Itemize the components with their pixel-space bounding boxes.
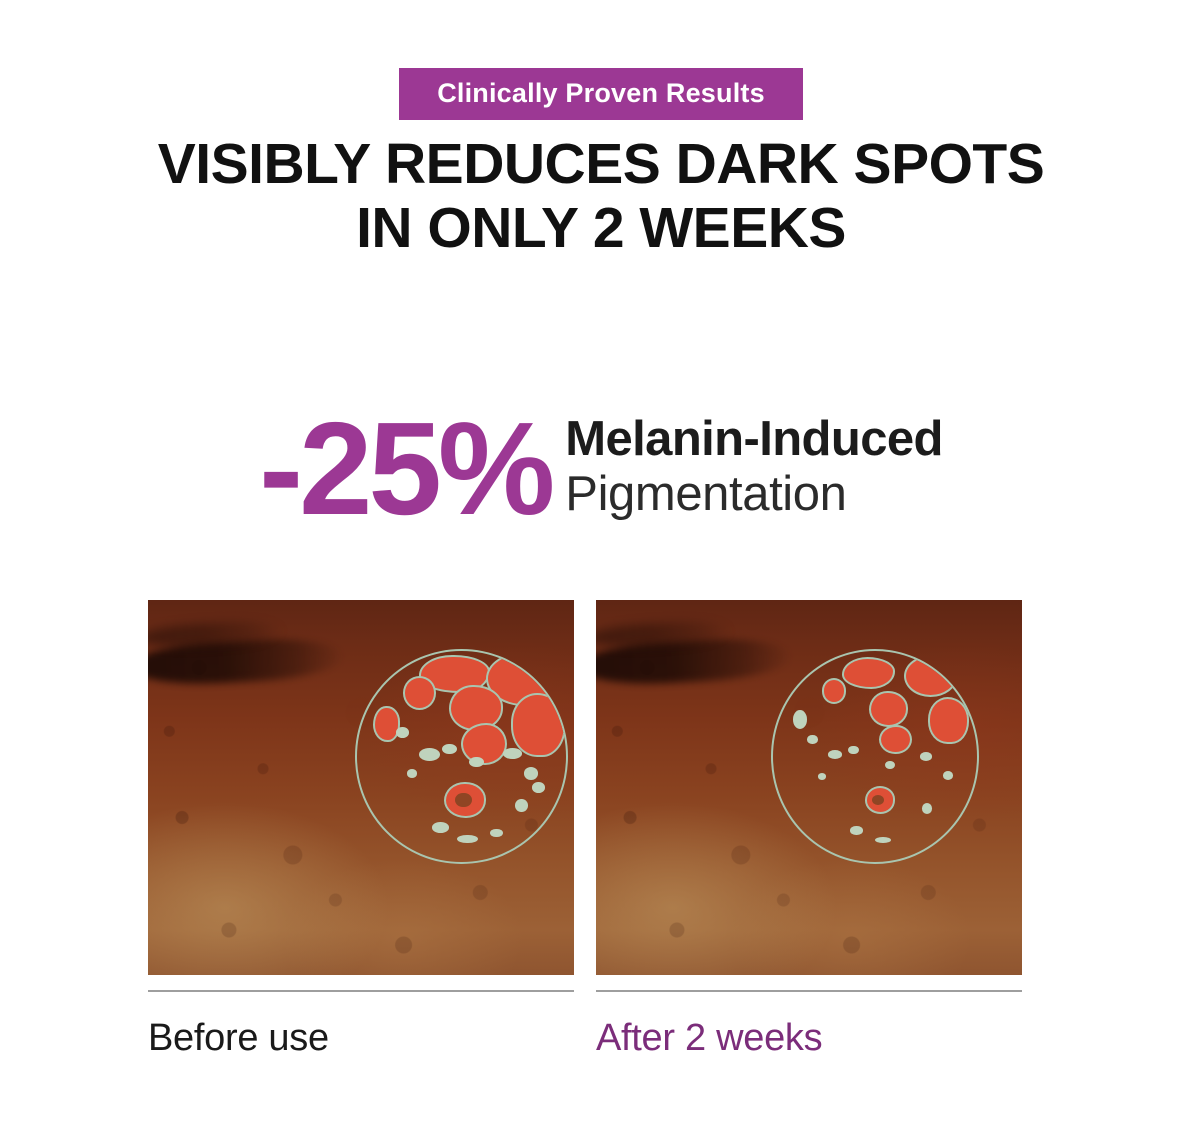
pigment-speck xyxy=(875,837,891,843)
pigment-speck xyxy=(943,771,953,779)
skin-microscopy-before-image xyxy=(148,600,574,975)
caption-divider xyxy=(148,990,574,992)
stat-descriptor: Melanin-Induced Pigmentation xyxy=(565,415,943,523)
pigment-blob xyxy=(373,706,400,742)
badge-row: Clinically Proven Results xyxy=(0,68,1202,120)
pigment-speck xyxy=(850,826,862,834)
pigment-speck xyxy=(407,769,417,777)
skin-microscopy-after-image xyxy=(596,600,1022,975)
pigment-blob xyxy=(869,691,908,727)
pigment-blob xyxy=(904,655,957,697)
pigment-speck xyxy=(922,803,932,814)
pigment-speck xyxy=(503,748,522,759)
pigment-speck xyxy=(432,822,449,833)
pigmentation-analysis-circle-before xyxy=(355,649,568,865)
stat-percentage-value: -25% xyxy=(259,408,551,529)
pigment-blob xyxy=(511,693,565,756)
pigment-speck xyxy=(515,799,528,812)
pigment-blob xyxy=(403,676,436,710)
clinically-proven-badge: Clinically Proven Results xyxy=(399,68,803,120)
pigment-blob xyxy=(461,723,507,765)
pigment-speck xyxy=(885,761,895,769)
pigment-speck xyxy=(920,752,932,760)
before-use-label: Before use xyxy=(148,1018,574,1060)
statistic-inner: -25% Melanin-Induced Pigmentation xyxy=(259,408,943,529)
pigment-speck xyxy=(532,782,545,793)
caption-divider xyxy=(596,990,1022,992)
after-2-weeks-label: After 2 weeks xyxy=(596,1018,1022,1060)
before-after-comparison xyxy=(148,600,1022,975)
pigment-speck xyxy=(442,744,457,755)
pigmentation-analysis-circle-after xyxy=(771,649,980,865)
pigment-speck xyxy=(793,710,807,729)
pigment-speck xyxy=(828,750,842,758)
after-panel xyxy=(596,600,1022,975)
before-caption-column: Before use xyxy=(148,990,574,1060)
pigment-speck xyxy=(419,748,440,761)
pigment-speck xyxy=(848,746,858,754)
pigment-blob xyxy=(842,657,895,689)
pigment-speck xyxy=(455,793,472,808)
roi-pigment-map-after xyxy=(773,651,978,863)
pigment-speck xyxy=(807,735,817,743)
clinical-results-poster: Clinically Proven Results VISIBLY REDUCE… xyxy=(0,0,1202,1122)
pigment-blob xyxy=(928,697,969,744)
pigment-speck xyxy=(524,767,539,780)
caption-row: Before use After 2 weeks xyxy=(148,990,1022,1060)
stat-descriptor-line-1: Melanin-Induced xyxy=(565,415,943,464)
page-title: VISIBLY REDUCES DARK SPOTS IN ONLY 2 WEE… xyxy=(0,133,1202,261)
statistic-block: -25% Melanin-Induced Pigmentation xyxy=(0,408,1202,529)
pigment-speck xyxy=(818,773,826,779)
headline-line-1: VISIBLY REDUCES DARK SPOTS xyxy=(0,133,1202,197)
stat-descriptor-line-2: Pigmentation xyxy=(565,470,943,519)
pigment-speck xyxy=(490,829,503,837)
pigment-speck xyxy=(396,727,409,738)
pigment-speck xyxy=(457,835,478,843)
pigment-blob xyxy=(822,678,847,703)
roi-pigment-map-before xyxy=(357,651,566,863)
before-panel xyxy=(148,600,574,975)
pigment-blob xyxy=(879,725,912,755)
pigment-speck xyxy=(469,757,484,768)
headline-line-2: IN ONLY 2 WEEKS xyxy=(0,197,1202,261)
after-caption-column: After 2 weeks xyxy=(596,990,1022,1060)
